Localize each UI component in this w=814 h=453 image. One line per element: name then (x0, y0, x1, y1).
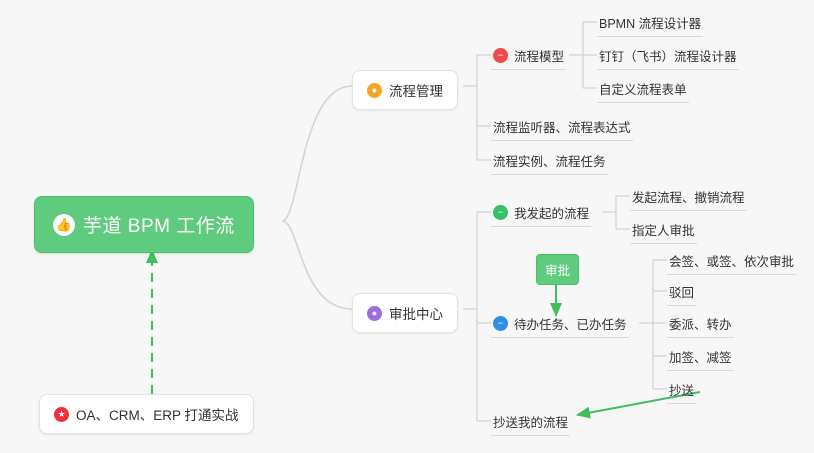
node-todo-done-task[interactable]: − 待办任务、已办任务 (491, 311, 629, 338)
node-process-model-label: 流程模型 (514, 46, 564, 65)
node-cc-to-me[interactable]: 抄送我的流程 (491, 409, 570, 436)
minus-circle-icon: − (493, 316, 508, 331)
node-delegate-transfer[interactable]: 委派、转办 (667, 311, 734, 338)
node-cc-label: 抄送 (669, 380, 694, 399)
node-add-remove-sign[interactable]: 加签、减签 (667, 344, 734, 371)
node-dingtalk-designer[interactable]: 钉钉（飞书）流程设计器 (597, 43, 739, 70)
node-assign-approver-label: 指定人审批 (632, 220, 695, 239)
node-my-started-process[interactable]: − 我发起的流程 (491, 200, 591, 227)
thumbs-up-icon: 👍 (53, 214, 75, 236)
callout-integration-practice-label: OA、CRM、ERP 打通实战 (76, 404, 239, 424)
node-listener-expression[interactable]: 流程监听器、流程表达式 (491, 114, 633, 141)
node-custom-form-label: 自定义流程表单 (599, 79, 687, 98)
node-cc-to-me-label: 抄送我的流程 (493, 412, 568, 431)
node-bpmn-designer-label: BPMN 流程设计器 (599, 13, 701, 32)
node-my-started-process-label: 我发起的流程 (514, 203, 589, 222)
mindmap-canvas: 👍 芋道 BPM 工作流 ● 流程管理 − 流程模型 BPMN 流程设计器 钉钉… (0, 0, 814, 453)
root-node-label: 芋道 BPM 工作流 (83, 211, 235, 238)
node-start-cancel-process-label: 发起流程、撤销流程 (632, 187, 745, 206)
branch-process-management[interactable]: ● 流程管理 (352, 70, 458, 110)
node-delegate-transfer-label: 委派、转办 (669, 314, 732, 333)
branch-process-management-label: 流程管理 (389, 80, 443, 100)
node-instance-task-label: 流程实例、流程任务 (493, 151, 606, 170)
minus-circle-icon: − (493, 48, 508, 63)
node-cc[interactable]: 抄送 (667, 377, 696, 404)
node-countersign-label: 会签、或签、依次审批 (669, 251, 794, 270)
minus-circle-icon: − (493, 205, 508, 220)
node-countersign[interactable]: 会签、或签、依次审批 (667, 248, 796, 275)
callout-approval-label: 审批 (545, 260, 570, 279)
node-listener-expression-label: 流程监听器、流程表达式 (493, 117, 631, 136)
node-instance-task[interactable]: 流程实例、流程任务 (491, 148, 608, 175)
node-custom-form[interactable]: 自定义流程表单 (597, 76, 689, 103)
node-start-cancel-process[interactable]: 发起流程、撤销流程 (630, 184, 747, 211)
branch-approval-center-label: 审批中心 (389, 303, 443, 323)
node-add-remove-sign-label: 加签、减签 (669, 347, 732, 366)
star-icon: ★ (54, 407, 69, 422)
branch-approval-center[interactable]: ● 审批中心 (352, 293, 458, 333)
callout-approval[interactable]: 审批 (536, 254, 579, 285)
chat-bubble-icon: ● (367, 306, 382, 321)
node-assign-approver[interactable]: 指定人审批 (630, 217, 697, 244)
node-todo-done-task-label: 待办任务、已办任务 (514, 314, 627, 333)
node-bpmn-designer[interactable]: BPMN 流程设计器 (597, 10, 703, 37)
location-pin-icon: ● (367, 83, 382, 98)
node-reject[interactable]: 驳回 (667, 279, 696, 306)
callout-integration-practice[interactable]: ★ OA、CRM、ERP 打通实战 (39, 394, 254, 434)
node-process-model[interactable]: − 流程模型 (491, 43, 566, 70)
node-reject-label: 驳回 (669, 282, 694, 301)
node-dingtalk-designer-label: 钉钉（飞书）流程设计器 (599, 46, 737, 65)
root-node[interactable]: 👍 芋道 BPM 工作流 (34, 196, 254, 253)
